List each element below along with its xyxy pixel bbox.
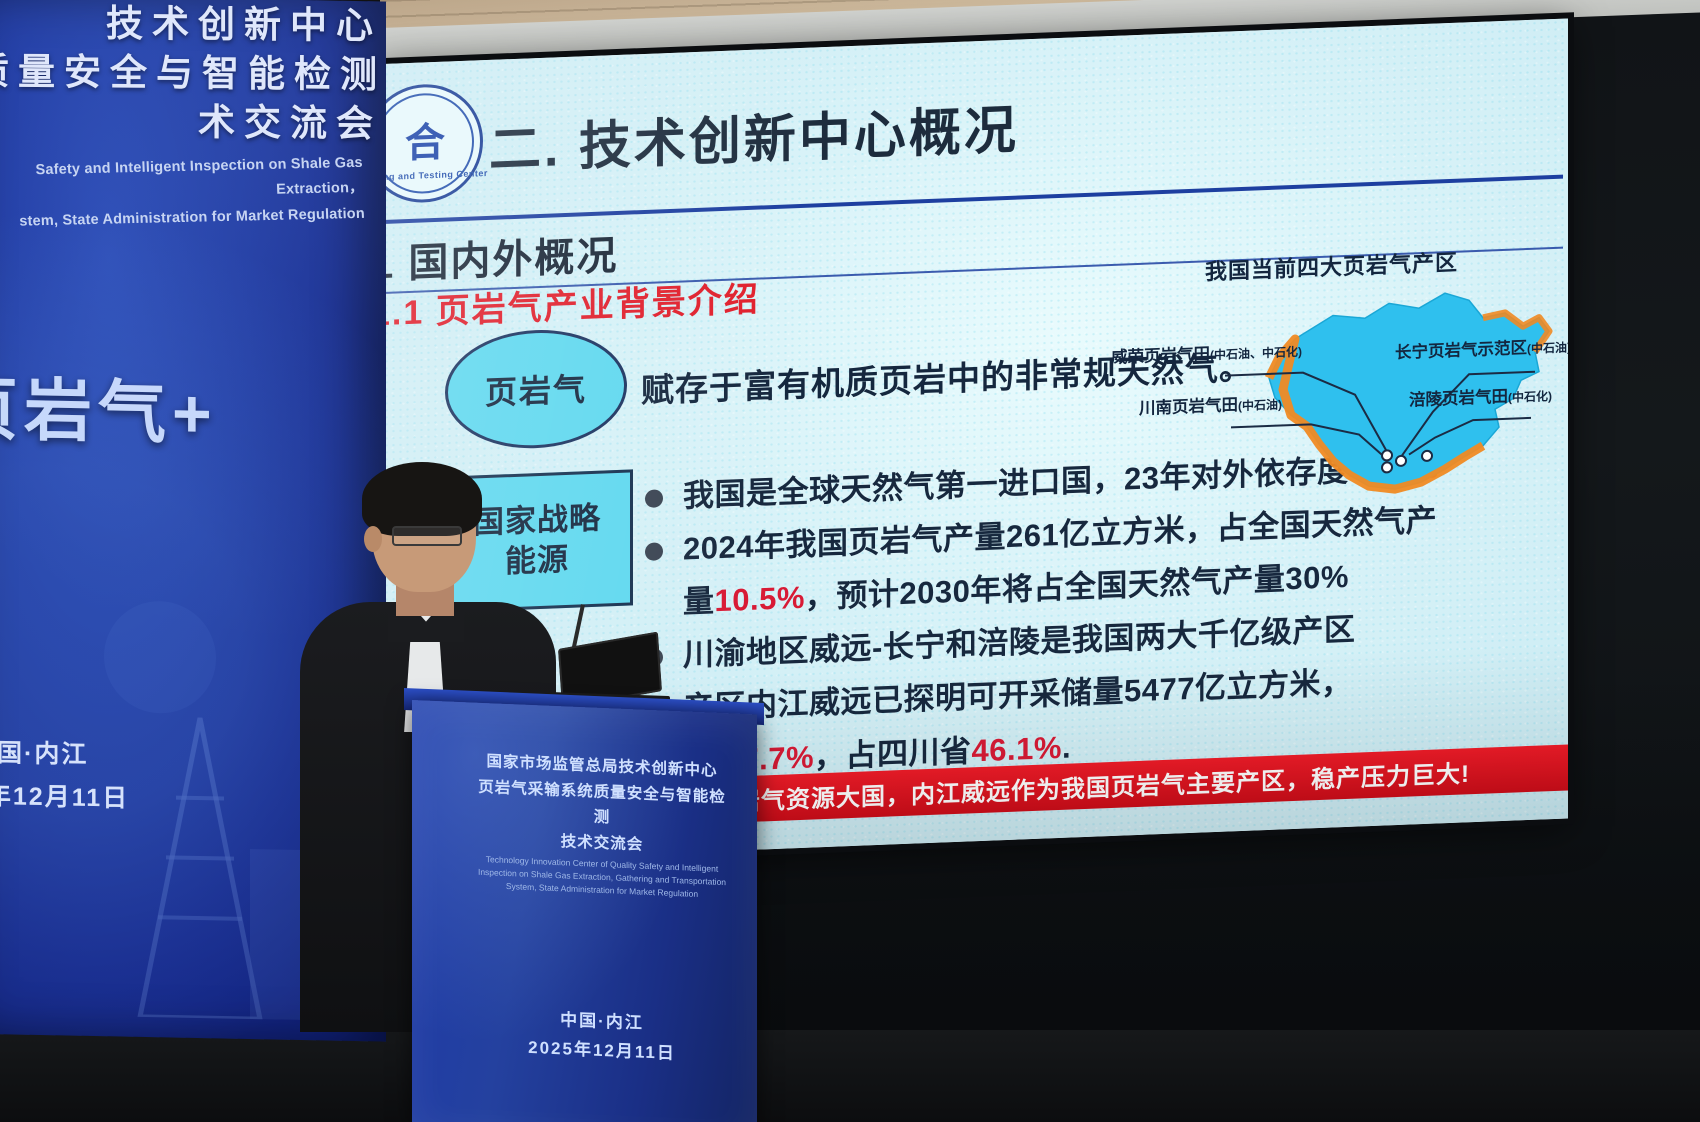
- banner-title: 技术创新中心质量安全与智能检测术交流会: [0, 0, 382, 151]
- banner-title-line-0: 技术创新中心: [0, 0, 382, 51]
- banner-title-line-2: 术交流会: [0, 96, 382, 149]
- speaker-hair: [362, 462, 482, 536]
- banner-footer: 中国·内江 5年12月11日: [0, 732, 290, 823]
- banner-subtitle-english: Safety and Intelligent Inspection on Sha…: [0, 151, 365, 236]
- banner-location: 中国·内江: [0, 732, 290, 781]
- podium-title: 国家市场监管总局技术创新中心页岩气采输系统质量安全与智能检测技术交流会: [472, 749, 732, 862]
- banner-logo-text: 页岩气+: [0, 353, 250, 489]
- speaker-ear: [364, 526, 382, 552]
- screenshot-root: 合 Testing and Testing Center 二. 技术创新中心概况…: [0, 0, 1700, 1122]
- podium-footer: 中国·内江2025年12月11日: [472, 1003, 732, 1072]
- banner-english-line-0: Safety and Intelligent Inspection on Sha…: [0, 151, 364, 211]
- podium: 国家市场监管总局技术创新中心页岩气采输系统质量安全与智能检测技术交流会 Tech…: [412, 700, 757, 1122]
- floor: [0, 1030, 1700, 1122]
- banner-title-line-1: 质量安全与智能检测: [0, 47, 382, 100]
- speaker-glasses-icon: [392, 526, 462, 546]
- banner-date: 5年12月11日: [0, 774, 290, 823]
